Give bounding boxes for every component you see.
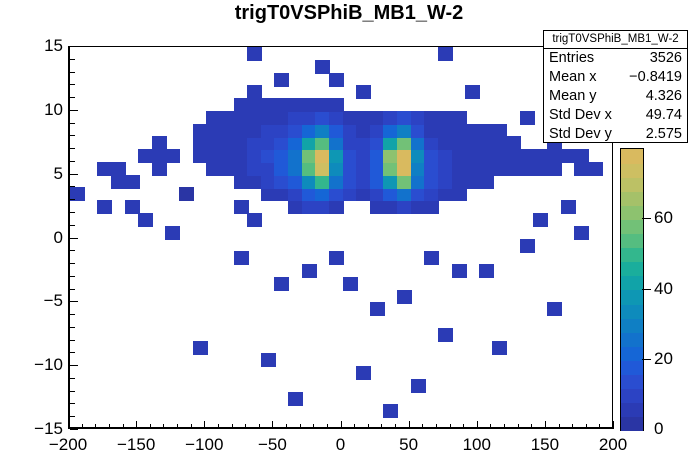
y-axis-minor-tick (70, 403, 75, 404)
x-axis-minor-tick (395, 424, 396, 429)
y-axis-minor-tick (70, 72, 75, 73)
heatmap-bin (383, 404, 398, 418)
x-axis-minor-tick (463, 424, 464, 429)
x-axis-minor-tick (586, 424, 587, 429)
heatmap-bin (138, 213, 153, 227)
x-axis-major-tick (477, 421, 478, 429)
y-axis-minor-tick (70, 135, 75, 136)
y-axis-minor-tick (70, 59, 75, 60)
heatmap-bin (438, 328, 453, 342)
palette-label: 60 (654, 208, 673, 228)
x-axis-minor-tick (436, 424, 437, 429)
y-axis-minor-tick (70, 391, 75, 392)
statistics-key: Entries (549, 49, 594, 68)
x-axis-label: −50 (258, 435, 287, 455)
statistics-row: Std Dev y2.575 (544, 125, 687, 144)
y-axis-minor-tick (70, 148, 75, 149)
y-axis-minor-tick (70, 199, 75, 200)
heatmap-bin (274, 73, 289, 87)
y-axis-label: 10 (44, 100, 63, 120)
heatmap-bin (356, 85, 371, 99)
statistics-key: Mean x (549, 68, 597, 87)
palette-tick (642, 289, 651, 290)
statistics-box: trigT0VSPhiB_MB1_W-2 Entries3526Mean x−0… (543, 30, 688, 143)
heatmap-bin (370, 302, 385, 316)
heatmap-bin (438, 47, 453, 61)
y-axis-label: 5 (54, 164, 63, 184)
x-axis-label: 0 (336, 435, 345, 455)
x-axis-label: 200 (599, 435, 627, 455)
x-axis-minor-tick (232, 424, 233, 429)
heatmap-bins (70, 47, 612, 427)
y-axis-label: −5 (44, 291, 63, 311)
x-axis-major-tick (613, 421, 614, 429)
x-axis-minor-tick (259, 424, 260, 429)
y-axis-minor-tick (70, 314, 75, 315)
x-axis-major-tick (136, 421, 137, 429)
heatmap-bin (588, 162, 603, 176)
statistics-key: Std Dev x (549, 106, 612, 125)
y-axis-label: −10 (34, 355, 63, 375)
y-axis-minor-tick (70, 378, 75, 379)
y-axis-minor-tick (70, 225, 75, 226)
y-axis-label: 0 (54, 228, 63, 248)
x-axis-major-tick (409, 421, 410, 429)
x-axis-minor-tick (191, 424, 192, 429)
heatmap-bin (193, 341, 208, 355)
heatmap-bin (302, 264, 317, 278)
y-axis-minor-tick (70, 123, 75, 124)
y-axis-minor-tick (70, 250, 75, 251)
y-axis-major-tick (70, 174, 78, 175)
statistics-value: 4.326 (646, 87, 682, 106)
x-axis-minor-tick (559, 424, 560, 429)
x-axis-minor-tick (218, 424, 219, 429)
y-axis-major-tick (70, 429, 78, 430)
x-axis-minor-tick (109, 424, 110, 429)
x-axis-minor-tick (123, 424, 124, 429)
x-axis-minor-tick (518, 424, 519, 429)
x-axis-minor-tick (82, 424, 83, 429)
x-axis-minor-tick (490, 424, 491, 429)
x-axis-minor-tick (368, 424, 369, 429)
x-axis-label: 100 (463, 435, 491, 455)
x-axis-minor-tick (95, 424, 96, 429)
heatmap-bin (520, 111, 535, 125)
y-axis-minor-tick (70, 97, 75, 98)
palette-tick (642, 218, 651, 219)
heatmap-bin (397, 290, 412, 304)
heatmap-bin (152, 162, 167, 176)
statistics-value: 2.575 (646, 125, 682, 144)
x-axis-minor-tick (300, 424, 301, 429)
heatmap-bin (179, 187, 194, 201)
y-axis-minor-tick (70, 276, 75, 277)
heatmap-bin (424, 200, 439, 214)
heatmap-bin (165, 149, 180, 163)
x-axis-label: 150 (531, 435, 559, 455)
y-axis-major-tick (70, 110, 78, 111)
y-axis-minor-tick (70, 327, 75, 328)
x-axis-major-tick (545, 421, 546, 429)
heatmap-bin (492, 341, 507, 355)
palette-label: 0 (654, 419, 663, 439)
statistics-row: Std Dev x49.74 (544, 106, 687, 125)
heatmap-bin (452, 264, 467, 278)
heatmap-bin (165, 226, 180, 240)
x-axis-minor-tick (450, 424, 451, 429)
x-axis-minor-tick (531, 424, 532, 429)
heatmap-bin (315, 60, 330, 74)
heatmap-bin (125, 200, 140, 214)
heatmap-bin (547, 302, 562, 316)
palette-label: 20 (654, 349, 673, 369)
heatmap-bin (574, 226, 589, 240)
y-axis-major-tick (70, 365, 78, 366)
heatmap-bin (533, 213, 548, 227)
root-canvas: trigT0VSPhiB_MB1_W-2 −200−150−100−500501… (0, 0, 698, 476)
statistics-value: 49.74 (646, 106, 682, 125)
heatmap-bin (411, 379, 426, 393)
x-axis-minor-tick (381, 424, 382, 429)
heatmap-bin (247, 213, 262, 227)
palette-label: 40 (654, 279, 673, 299)
x-axis-label: −150 (117, 435, 155, 455)
x-axis-minor-tick (150, 424, 151, 429)
x-axis-minor-tick (286, 424, 287, 429)
statistics-value: −0.8419 (629, 68, 682, 87)
y-axis-label: 15 (44, 36, 63, 56)
y-axis-minor-tick (70, 289, 75, 290)
x-axis-major-tick (204, 421, 205, 429)
heatmap-bin (356, 366, 371, 380)
y-axis-minor-tick (70, 186, 75, 187)
y-axis-minor-tick (70, 84, 75, 85)
y-axis-minor-tick (70, 416, 75, 417)
heatmap-bin (465, 85, 480, 99)
heatmap-bin (234, 251, 249, 265)
x-axis-label: −100 (185, 435, 223, 455)
x-axis-minor-tick (245, 424, 246, 429)
y-axis-major-tick (70, 46, 78, 47)
y-axis-major-tick (70, 301, 78, 302)
statistics-key: Mean y (549, 87, 597, 106)
x-axis-major-tick (341, 421, 342, 429)
statistics-row: Mean x−0.8419 (544, 68, 687, 87)
statistics-row: Entries3526 (544, 49, 687, 68)
x-axis-minor-tick (163, 424, 164, 429)
x-axis-minor-tick (354, 424, 355, 429)
y-axis-major-tick (70, 238, 78, 239)
statistics-key: Std Dev y (549, 125, 612, 144)
heatmap-bin (97, 200, 112, 214)
heatmap-bin (288, 392, 303, 406)
heatmap-bin (125, 175, 140, 189)
plot-title: trigT0VSPhiB_MB1_W-2 (0, 2, 698, 25)
y-axis-minor-tick (70, 340, 75, 341)
heatmap-bin (479, 175, 494, 189)
x-axis-major-tick (272, 421, 273, 429)
statistics-row: Mean y4.326 (544, 87, 687, 106)
statistics-value: 3526 (650, 49, 682, 68)
heatmap-bin (561, 200, 576, 214)
x-axis-major-tick (68, 421, 69, 429)
x-axis-minor-tick (572, 424, 573, 429)
statistics-rows: Entries3526Mean x−0.8419Mean y4.326Std D… (544, 49, 687, 144)
heatmap-bin (274, 277, 289, 291)
x-axis-minor-tick (422, 424, 423, 429)
statistics-box-title: trigT0VSPhiB_MB1_W-2 (544, 31, 687, 49)
heatmap-bin (547, 162, 562, 176)
x-axis-label: 50 (399, 435, 418, 455)
y-axis-minor-tick (70, 161, 75, 162)
x-axis-minor-tick (313, 424, 314, 429)
plot-frame (68, 46, 613, 429)
x-axis-minor-tick (504, 424, 505, 429)
x-axis-minor-tick (327, 424, 328, 429)
y-axis-label: −15 (34, 419, 63, 439)
heatmap-bin (479, 264, 494, 278)
color-palette-axis: 0204060 (620, 148, 680, 431)
x-axis-minor-tick (177, 424, 178, 429)
heatmap-bin (247, 47, 262, 61)
heatmap-bin (520, 239, 535, 253)
y-axis-minor-tick (70, 212, 75, 213)
y-axis-minor-tick (70, 263, 75, 264)
heatmap-bin (424, 251, 439, 265)
heatmap-bin (329, 200, 344, 214)
heatmap-bin (343, 277, 358, 291)
palette-tick (642, 359, 651, 360)
heatmap-bin (329, 73, 344, 87)
heatmap-bin (261, 353, 276, 367)
heatmap-bin (329, 251, 344, 265)
y-axis-minor-tick (70, 352, 75, 353)
heatmap-bin (452, 187, 467, 201)
x-axis-minor-tick (599, 424, 600, 429)
